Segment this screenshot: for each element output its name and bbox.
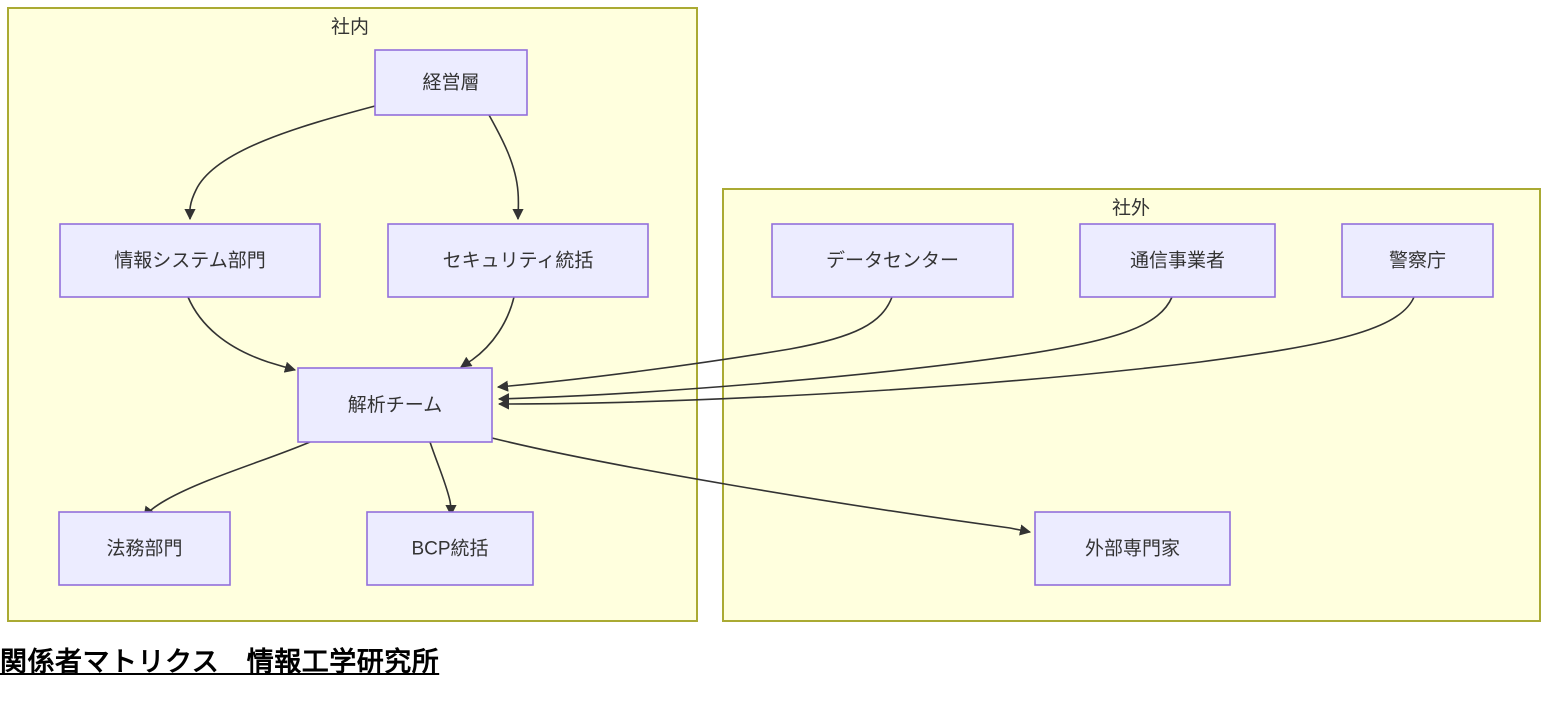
- flowchart-canvas: 社内社外 経営層情報システム部門セキュリティ統括解析チーム法務部門BCP統括デー…: [0, 0, 1568, 704]
- node-label-telecom: 通信事業者: [1130, 250, 1225, 272]
- node-it[interactable]: 情報システム部門: [60, 224, 320, 297]
- node-dc[interactable]: データセンター: [772, 224, 1013, 297]
- node-label-it: 情報システム部門: [114, 250, 265, 272]
- diagram-root: 社内社外 経営層情報システム部門セキュリティ統括解析チーム法務部門BCP統括デー…: [0, 0, 1568, 704]
- cluster-label-internal: 社内: [331, 16, 369, 38]
- node-sec[interactable]: セキュリティ統括: [388, 224, 648, 297]
- node-label-analysis: 解析チーム: [348, 394, 442, 416]
- node-bcp[interactable]: BCP統括: [367, 512, 533, 585]
- node-label-police: 警察庁: [1389, 250, 1446, 272]
- node-expert[interactable]: 外部専門家: [1035, 512, 1230, 585]
- node-police[interactable]: 警察庁: [1342, 224, 1493, 297]
- clusters-layer: 社内社外: [8, 8, 1540, 621]
- node-label-exec: 経営層: [422, 72, 479, 94]
- diagram-caption: 関係者マトリクス 情報工学研究所: [0, 640, 439, 679]
- node-label-dc: データセンター: [826, 250, 959, 272]
- node-label-sec: セキュリティ統括: [443, 250, 594, 272]
- node-legal[interactable]: 法務部門: [59, 512, 230, 585]
- cluster-label-external: 社外: [1112, 197, 1150, 219]
- node-label-expert: 外部専門家: [1085, 538, 1180, 560]
- node-label-legal: 法務部門: [106, 538, 182, 560]
- node-telecom[interactable]: 通信事業者: [1080, 224, 1275, 297]
- node-analysis[interactable]: 解析チーム: [298, 368, 492, 442]
- node-exec[interactable]: 経営層: [375, 50, 527, 115]
- node-label-bcp: BCP統括: [411, 538, 488, 560]
